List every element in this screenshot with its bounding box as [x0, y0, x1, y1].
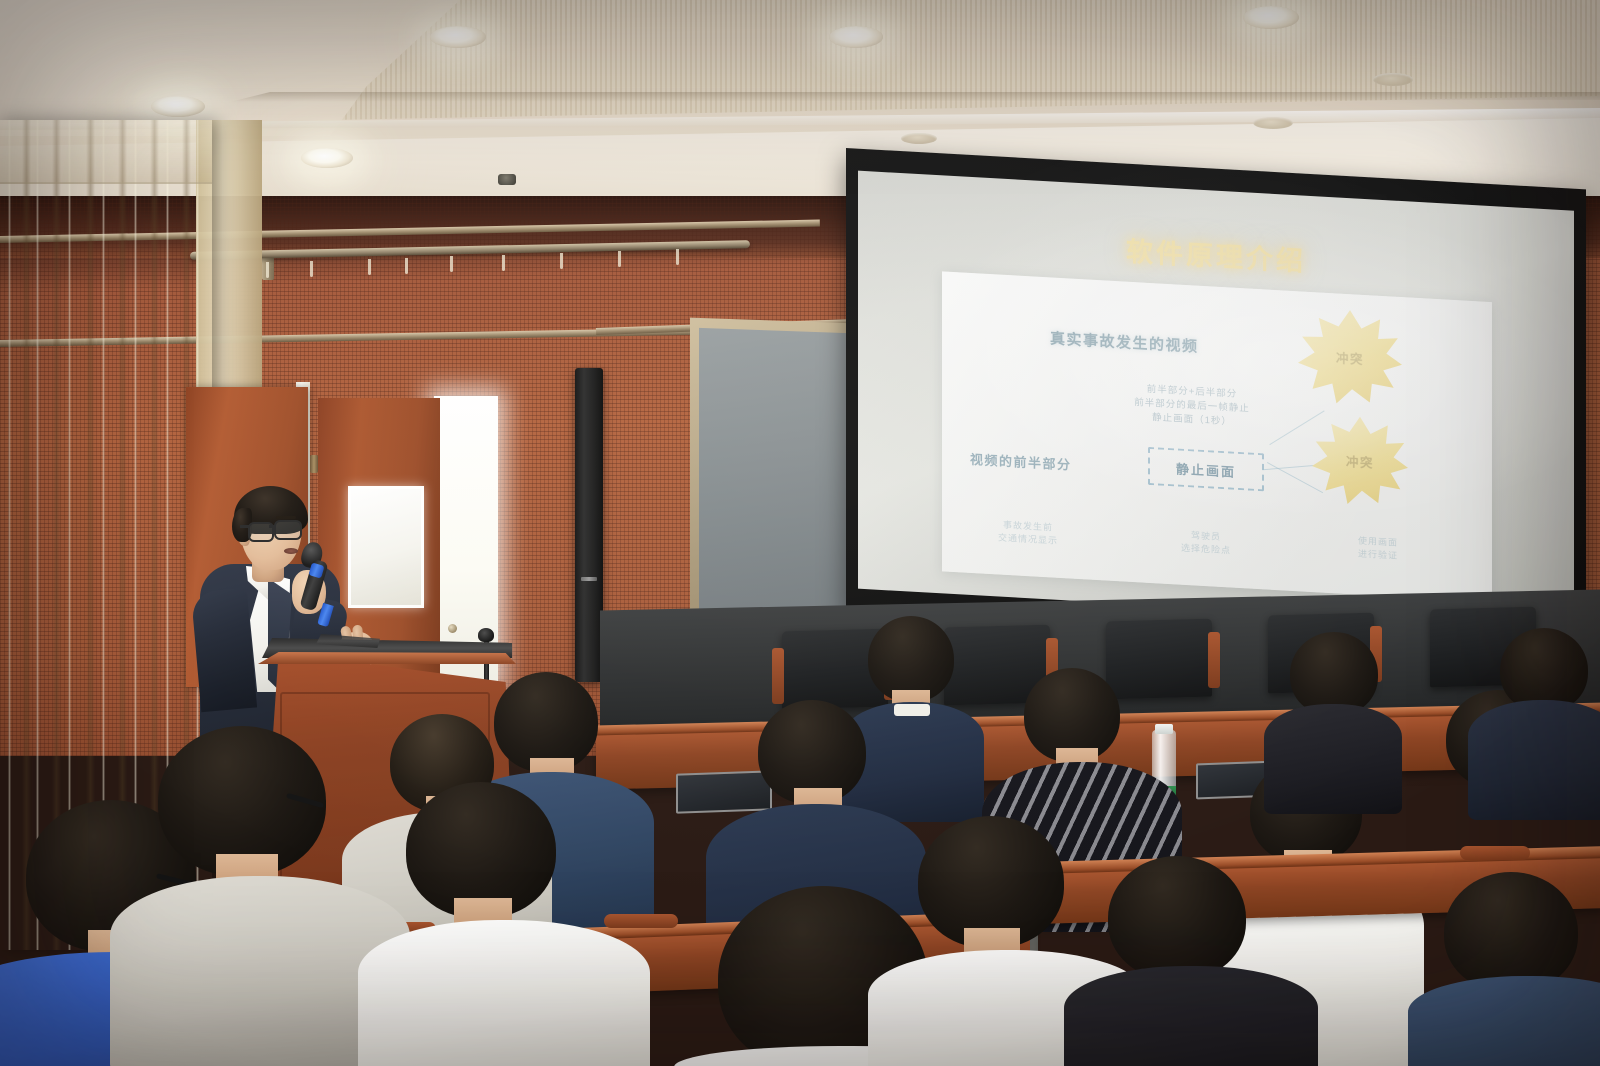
projector-screen: 软件原理介绍 真实事故发生的视频 前半部分+后半部分 前半部分的最后一帧静止 静…	[846, 148, 1586, 651]
audience-member	[1420, 872, 1600, 1066]
curtain-hook-icon	[450, 256, 453, 272]
wall-speaker-column	[575, 368, 603, 682]
presenter-shoulder	[191, 588, 257, 712]
ceiling-vent-icon	[1253, 117, 1293, 129]
podium-top-edge	[258, 652, 516, 664]
slide-still-frame-box: 静止画面	[1148, 447, 1264, 491]
slide-content-card: 真实事故发生的视频 前半部分+后半部分 前半部分的最后一帧静止 静止画面（1秒）…	[942, 271, 1492, 602]
audience-member	[1074, 856, 1304, 1066]
ceiling-vent-icon	[1373, 73, 1413, 86]
ceiling-downlight-icon	[430, 26, 486, 48]
ceiling-downlight-icon	[1243, 6, 1299, 29]
audience-torso	[358, 920, 650, 1066]
curtain-header-pleat	[0, 120, 212, 184]
lecture-hall-photo: 软件原理介绍 真实事故发生的视频 前半部分+后半部分 前半部分的最后一帧静止 静…	[0, 0, 1600, 1066]
ceiling-downlight-icon	[301, 148, 353, 168]
slide-heading: 真实事故发生的视频	[1050, 327, 1199, 356]
audience-member	[1268, 632, 1398, 792]
door-handle[interactable]	[448, 624, 457, 633]
presenter-glasses-bridge	[269, 525, 276, 528]
audience-torso	[1468, 700, 1600, 820]
curtain-hook-icon	[676, 249, 679, 265]
ceiling-sprinkler-icon	[498, 174, 516, 185]
slide-footer-caption: 事故发生前 交通情况显示	[968, 517, 1088, 549]
curtain-hook-icon	[618, 251, 621, 267]
slide-footer-caption: 使用画面 进行验证	[1318, 532, 1438, 564]
curtain-hook-icon	[368, 259, 371, 275]
presenter-glasses-temple	[240, 525, 249, 528]
chair-armrest	[772, 648, 784, 704]
audience-head	[1108, 856, 1246, 980]
audience-head	[1444, 872, 1578, 992]
presenter-eyebrow	[276, 516, 296, 519]
ceiling-vent-icon	[901, 133, 937, 144]
curtain-hook-icon	[560, 253, 563, 269]
audience-torso	[1064, 966, 1318, 1066]
slide-footer-caption: 驾驶员 选择危险点	[1146, 527, 1266, 559]
ceiling-downlight-icon	[151, 96, 205, 117]
microphone-stand-head	[478, 628, 494, 642]
audience-member	[372, 782, 632, 1066]
audience-member	[1472, 628, 1600, 808]
chair-armrest	[1460, 846, 1530, 860]
audience-torso	[1408, 976, 1600, 1066]
slide-left-label: 视频的前半部分	[970, 449, 1072, 474]
presenter-glasses-right-lens	[274, 520, 302, 540]
curtain-hook-icon	[502, 255, 505, 271]
chair-armrest	[1208, 632, 1220, 688]
ceiling-downlight-icon	[829, 26, 883, 48]
presenter-mouth	[284, 548, 298, 554]
curtain-hook-icon	[266, 262, 269, 278]
conflict-burst-icon: 冲突	[1298, 307, 1402, 407]
door-hinge	[310, 455, 318, 473]
projector-screen-surface: 软件原理介绍 真实事故发生的视频 前半部分+后半部分 前半部分的最后一帧静止 静…	[858, 171, 1574, 629]
audience-torso	[1264, 704, 1402, 814]
audience-member	[130, 726, 390, 1066]
speaker-brand-logo	[581, 577, 597, 581]
ceiling-shadow-line	[230, 92, 1600, 102]
curtain-hook-icon	[310, 261, 313, 277]
curtain-hook-icon	[405, 258, 408, 274]
conflict-burst-icon: 冲突	[1312, 414, 1408, 507]
